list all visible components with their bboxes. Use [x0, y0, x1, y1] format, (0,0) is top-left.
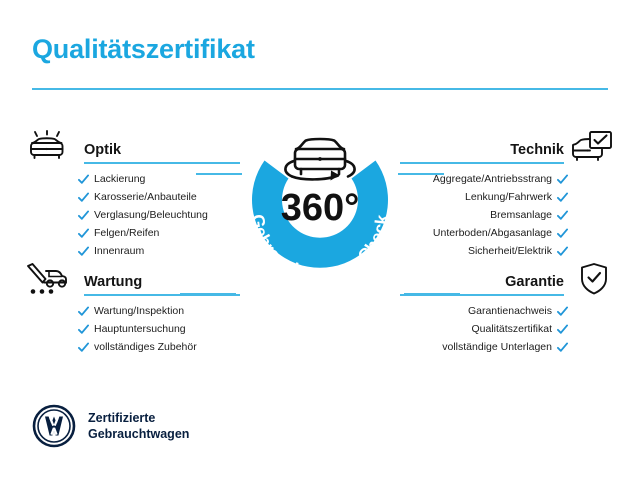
certificate-page: Qualitätszertifikat Optik — [0, 0, 640, 480]
check-label: Felgen/Reifen — [94, 227, 159, 239]
section-optik: Optik Lackierung Karosserie/Anbauteile — [20, 130, 240, 260]
check-icon — [78, 174, 89, 185]
section-divider-wartung — [84, 294, 240, 296]
list-item: Sicherheit/Elektrik — [400, 242, 620, 260]
section-title-wartung: Wartung — [84, 274, 142, 290]
checklist-optik: Lackierung Karosserie/Anbauteile Verglas… — [20, 164, 240, 260]
check-label: Verglasung/Beleuchtung — [94, 209, 208, 221]
list-item: Verglasung/Beleuchtung — [20, 206, 240, 224]
list-item: Hauptuntersuchung — [20, 320, 240, 338]
check-label: Innenraum — [94, 245, 144, 257]
list-item: Aggregate/Antriebsstrang — [400, 170, 620, 188]
car-checkbox-icon — [568, 130, 620, 164]
check-icon — [557, 192, 568, 203]
list-item: Karosserie/Anbauteile — [20, 188, 240, 206]
check-label: Garantienachweis — [468, 305, 552, 317]
section-divider-technik — [400, 162, 564, 164]
section-wartung: Wartung Wartung/Inspektion Hauptuntersuc… — [20, 262, 240, 356]
check-label: vollständiges Zubehör — [94, 341, 197, 353]
section-header-technik: Technik — [400, 130, 620, 164]
section-technik: Technik Aggregate/Antriebsstrang Lenkung… — [400, 130, 620, 260]
check-label: Qualitätszertifikat — [471, 323, 552, 335]
list-item: Felgen/Reifen — [20, 224, 240, 242]
check-label: Aggregate/Antriebsstrang — [433, 173, 552, 185]
list-item: Lenkung/Fahrwerk — [400, 188, 620, 206]
car-rotate-360-icon — [285, 139, 354, 181]
list-item: Garantienachweis — [400, 302, 620, 320]
list-item: Bremsanlage — [400, 206, 620, 224]
badge-center-label: 360° — [281, 187, 360, 229]
check-label: Karosserie/Anbauteile — [94, 191, 197, 203]
check-icon — [78, 210, 89, 221]
section-title-optik: Optik — [84, 142, 121, 158]
footer-logo-block: Zertifizierte Gebrauchtwagen — [32, 404, 189, 448]
check-icon — [557, 210, 568, 221]
check-icon — [557, 174, 568, 185]
check-icon — [78, 192, 89, 203]
check-icon — [557, 324, 568, 335]
vw-logo-icon — [32, 404, 76, 448]
list-item: vollständige Unterlagen — [400, 338, 620, 356]
check-icon — [78, 246, 89, 257]
section-divider-garantie — [400, 294, 564, 296]
check-icon — [78, 324, 89, 335]
section-garantie: Garantie Garantienachweis Qualitätszerti… — [400, 262, 620, 356]
footer-line-1: Zertifizierte — [88, 411, 155, 425]
section-header-garantie: Garantie — [400, 262, 620, 296]
list-item: Lackierung — [20, 170, 240, 188]
section-title-technik: Technik — [510, 142, 564, 158]
footer-line-2: Gebrauchtwagen — [88, 427, 189, 441]
section-header-wartung: Wartung — [20, 262, 240, 296]
section-divider-optik — [84, 162, 240, 164]
shield-check-icon — [568, 262, 620, 296]
check-label: Unterboden/Abgasanlage — [433, 227, 552, 239]
check-label: Bremsanlage — [490, 209, 552, 221]
list-item: Wartung/Inspektion — [20, 302, 240, 320]
check-label: Lenkung/Fahrwerk — [465, 191, 552, 203]
check-icon — [557, 246, 568, 257]
page-title: Qualitätszertifikat — [32, 34, 255, 65]
check-label: Lackierung — [94, 173, 145, 185]
check-icon — [557, 228, 568, 239]
footer-logo-text: Zertifizierte Gebrauchtwagen — [88, 410, 189, 442]
check-label: Sicherheit/Elektrik — [468, 245, 552, 257]
list-item: Innenraum — [20, 242, 240, 260]
check-icon — [78, 306, 89, 317]
car-wrench-oil-icon — [24, 262, 76, 296]
car-shine-icon — [24, 130, 76, 164]
check-icon — [557, 306, 568, 317]
list-item: Unterboden/Abgasanlage — [400, 224, 620, 242]
check-icon — [557, 342, 568, 353]
checklist-wartung: Wartung/Inspektion Hauptuntersuchung vol… — [20, 296, 240, 356]
list-item: vollständiges Zubehör — [20, 338, 240, 356]
section-header-optik: Optik — [20, 130, 240, 164]
check-label: Hauptuntersuchung — [94, 323, 186, 335]
check-icon — [78, 342, 89, 353]
check-icon — [78, 228, 89, 239]
section-title-garantie: Garantie — [505, 274, 564, 290]
title-divider — [32, 88, 608, 90]
list-item: Qualitätszertifikat — [400, 320, 620, 338]
checklist-technik: Aggregate/Antriebsstrang Lenkung/Fahrwer… — [400, 164, 620, 260]
checklist-garantie: Garantienachweis Qualitätszertifikat vol… — [400, 296, 620, 356]
badge-360-gebrauchtwagen-check: 360° Gebrauchtwagen-Check — [226, 112, 414, 300]
check-label: Wartung/Inspektion — [94, 305, 184, 317]
check-label: vollständige Unterlagen — [442, 341, 552, 353]
